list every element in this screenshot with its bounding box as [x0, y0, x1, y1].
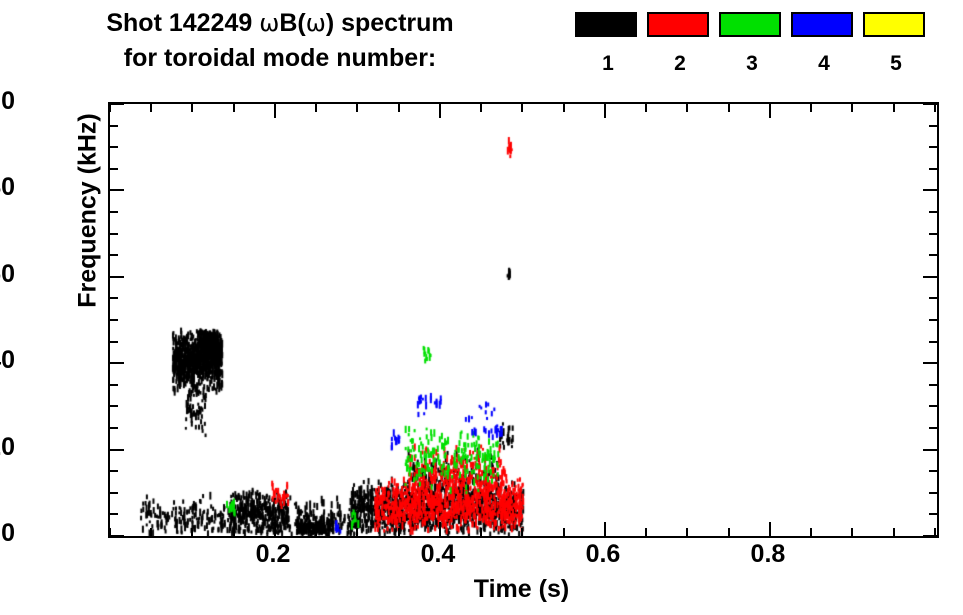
- x-tick-top-0.65: [645, 104, 647, 112]
- x-tick-top-0.8: [769, 104, 771, 118]
- x-tick-0.45: [480, 528, 482, 536]
- y-tick-60: [110, 276, 124, 278]
- x-tick-0.9: [851, 528, 853, 536]
- x-tick-top-0.05: [150, 104, 152, 112]
- legend-swatch-2: [647, 12, 709, 37]
- y-tick-20: [110, 449, 124, 451]
- y-tick-65: [110, 254, 118, 256]
- x-tick-top-0.7: [686, 104, 688, 112]
- x-tick-top-0.15: [233, 104, 235, 112]
- x-tick-top-0.45: [480, 104, 482, 112]
- plot-frame: [108, 102, 939, 538]
- x-tick-top-0.2: [274, 104, 276, 118]
- y-tick-right-25: [929, 427, 937, 429]
- x-tick-0.6: [604, 522, 606, 536]
- x-tick-0.7: [686, 528, 688, 536]
- legend-label-5: 5: [863, 52, 929, 76]
- y-tick-0: [110, 535, 124, 537]
- x-tick-label-0.2: 0.2: [228, 540, 318, 568]
- x-tick-top-0.75: [728, 104, 730, 112]
- title-b-open: B(: [279, 9, 305, 37]
- legend-swatch-1: [575, 12, 637, 37]
- y-tick-right-60: [923, 276, 937, 278]
- y-tick-right-75: [929, 211, 937, 213]
- y-tick-50: [110, 319, 118, 321]
- x-tick-0.65: [645, 528, 647, 536]
- x-tick-top-1: [934, 104, 936, 112]
- legend-entry-2: 2: [647, 12, 713, 76]
- x-tick-top-0.6: [604, 104, 606, 118]
- legend-label-1: 1: [575, 52, 641, 76]
- legend-label-2: 2: [647, 52, 713, 76]
- x-tick-0.4: [439, 522, 441, 536]
- y-tick-right-5: [929, 513, 937, 515]
- omega-symbol-1: ω: [259, 9, 279, 37]
- y-tick-label-20: 20: [0, 435, 15, 460]
- y-tick-label-80: 80: [0, 175, 15, 200]
- x-axis-title: Time (s): [108, 575, 935, 604]
- y-tick-right-40: [923, 362, 937, 364]
- x-tick-top-0.95: [893, 104, 895, 112]
- y-tick-right-45: [929, 341, 937, 343]
- x-tick-top-0.1: [191, 104, 193, 112]
- y-tick-right-50: [929, 319, 937, 321]
- x-tick-0: [109, 528, 111, 536]
- legend-swatch-3: [719, 12, 781, 37]
- x-tick-0.8: [769, 522, 771, 536]
- legend-swatch-4: [791, 12, 853, 37]
- y-tick-55: [110, 297, 118, 299]
- y-tick-right-95: [929, 125, 937, 127]
- y-tick-right-90: [929, 146, 937, 148]
- legend-entry-1: 1: [575, 12, 641, 76]
- y-tick-95: [110, 125, 118, 127]
- y-tick-80: [110, 189, 124, 191]
- x-tick-top-0: [109, 104, 111, 112]
- x-tick-0.5: [521, 528, 523, 536]
- spectrogram-canvas: [110, 104, 937, 536]
- x-tick-0.05: [150, 528, 152, 536]
- legend-label-3: 3: [719, 52, 785, 76]
- legend-entry-4: 4: [791, 12, 857, 76]
- y-tick-label-60: 60: [0, 262, 15, 287]
- x-tick-label-0.8: 0.8: [723, 540, 813, 568]
- y-tick-90: [110, 146, 118, 148]
- title-shot-text: Shot 142249: [106, 9, 259, 37]
- x-tick-0.75: [728, 528, 730, 536]
- y-tick-45: [110, 341, 118, 343]
- x-tick-0.2: [274, 522, 276, 536]
- y-tick-10: [110, 492, 118, 494]
- x-tick-0.35: [398, 528, 400, 536]
- x-tick-0.25: [315, 528, 317, 536]
- y-tick-35: [110, 384, 118, 386]
- x-tick-top-0.55: [563, 104, 565, 112]
- y-axis-title: Frequency (kHz): [74, 61, 103, 361]
- y-tick-right-80: [923, 189, 937, 191]
- y-tick-right-55: [929, 297, 937, 299]
- x-tick-label-0.4: 0.4: [393, 540, 483, 568]
- y-tick-label-100: 100: [0, 89, 15, 114]
- y-tick-right-70: [929, 233, 937, 235]
- x-tick-top-0.35: [398, 104, 400, 112]
- y-tick-30: [110, 405, 118, 407]
- y-tick-right-65: [929, 254, 937, 256]
- x-tick-top-0.9: [851, 104, 853, 112]
- y-tick-right-35: [929, 384, 937, 386]
- y-tick-75: [110, 211, 118, 213]
- x-tick-0.1: [191, 528, 193, 536]
- y-tick-right-15: [929, 470, 937, 472]
- y-tick-25: [110, 427, 118, 429]
- x-tick-0.3: [356, 528, 358, 536]
- y-tick-label-40: 40: [0, 348, 15, 373]
- x-tick-top-0.3: [356, 104, 358, 112]
- legend-label-4: 4: [791, 52, 857, 76]
- omega-symbol-2: ω: [306, 9, 326, 37]
- y-tick-100: [110, 103, 124, 105]
- y-tick-right-30: [929, 405, 937, 407]
- x-tick-top-0.85: [810, 104, 812, 112]
- y-tick-15: [110, 470, 118, 472]
- legend-entry-3: 3: [719, 12, 785, 76]
- y-tick-85: [110, 168, 118, 170]
- x-tick-top-0.5: [521, 104, 523, 112]
- y-tick-right-85: [929, 168, 937, 170]
- y-tick-right-20: [923, 449, 937, 451]
- title-spectrum-text: ) spectrum: [326, 9, 454, 37]
- legend-entry-5: 5: [863, 12, 929, 76]
- x-tick-0.55: [563, 528, 565, 536]
- x-tick-0.85: [810, 528, 812, 536]
- legend: 12345: [575, 12, 950, 90]
- y-tick-70: [110, 233, 118, 235]
- y-tick-right-10: [929, 492, 937, 494]
- x-tick-top-0.4: [439, 104, 441, 118]
- x-tick-top-0.25: [315, 104, 317, 112]
- legend-swatch-5: [863, 12, 925, 37]
- y-tick-5: [110, 513, 118, 515]
- x-tick-label-0.6: 0.6: [558, 540, 648, 568]
- x-tick-1: [934, 528, 936, 536]
- x-tick-0.15: [233, 528, 235, 536]
- x-tick-0.95: [893, 528, 895, 536]
- spectrogram-plot: Shot 142249 ωB(ω) spectrum for toroidal …: [0, 0, 963, 615]
- chart-title-line1: Shot 142249 ωB(ω) spectrum: [0, 6, 560, 41]
- y-tick-label-0: 0: [0, 521, 15, 546]
- y-tick-40: [110, 362, 124, 364]
